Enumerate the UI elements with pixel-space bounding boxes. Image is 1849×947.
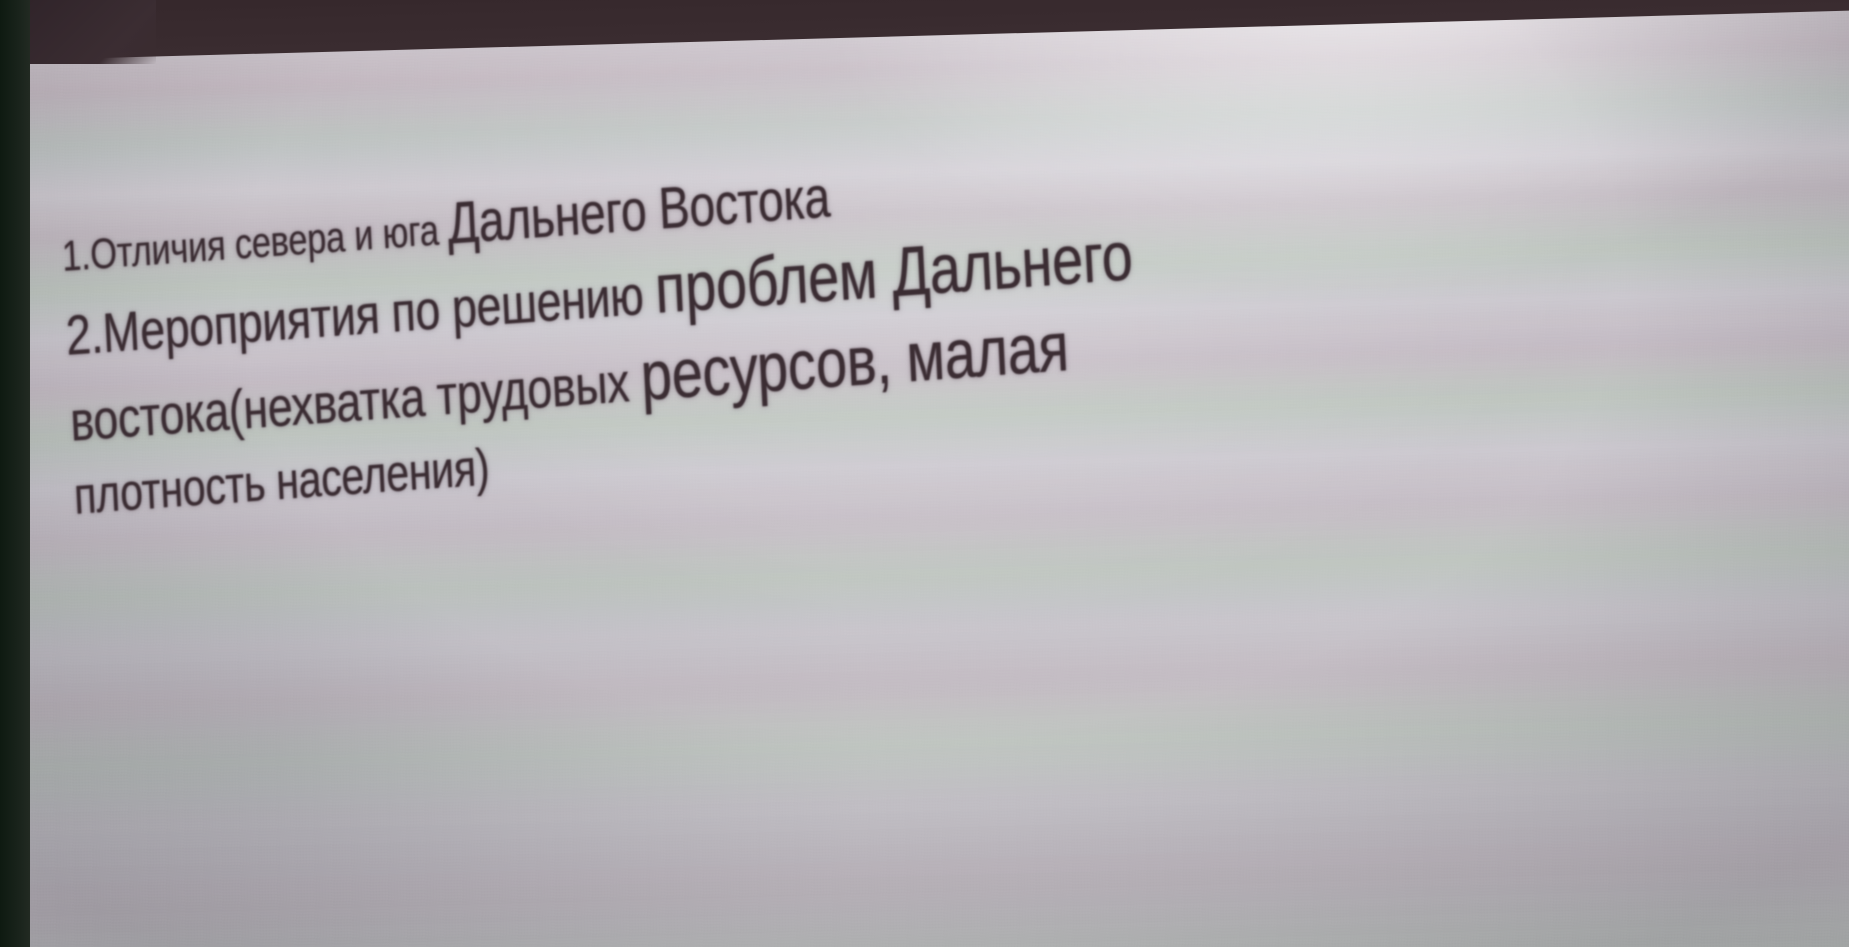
screenshot-root: 1.Отличия севера и юга Дальнего Востока … [0, 0, 1849, 947]
wall-strip-left [0, 0, 30, 947]
screen-frame-corner-shadow [26, 0, 156, 64]
